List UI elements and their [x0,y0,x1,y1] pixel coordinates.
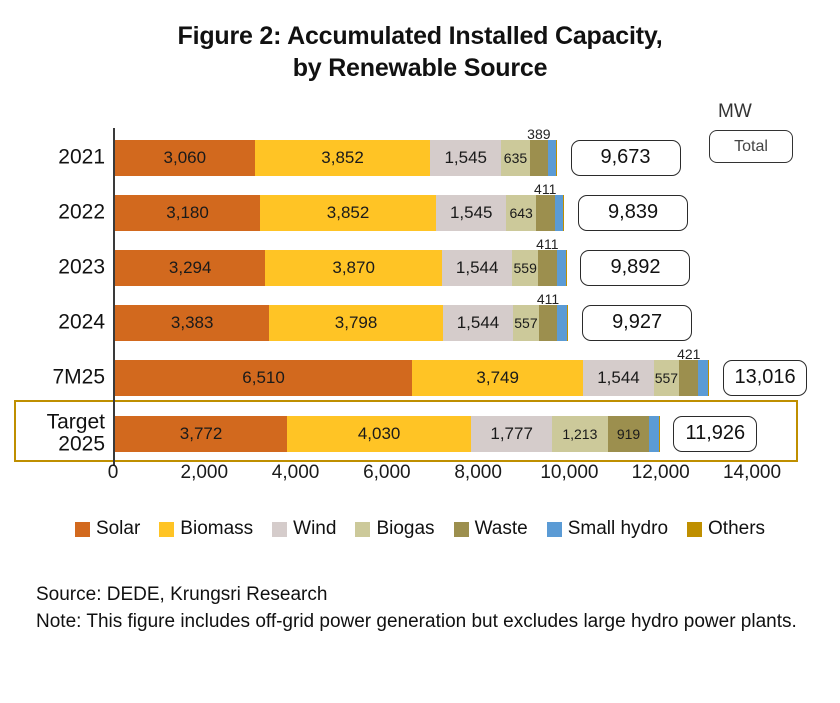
row-category-label: 7M25 [0,366,105,389]
stacked-bar[interactable]: 3,3833,7981,544557 [115,305,568,341]
segment-callout-label: 389 [527,126,550,142]
legend-swatch-icon [687,522,702,537]
row-total-box: 9,927 [582,305,692,341]
bar-segment-waste[interactable] [679,360,698,396]
legend-swatch-icon [75,522,90,537]
legend-label: Small hydro [568,518,668,540]
stacked-bar[interactable]: 3,1803,8521,545643 [115,195,564,231]
segment-value-label: 1,544 [456,258,499,278]
row-total-box: 13,016 [723,360,807,396]
x-axis-tick-label: 0 [108,462,119,484]
segment-callout-label: 411 [537,291,559,307]
footnotes: Source: DEDE, Krungsri Research Note: Th… [36,582,816,636]
stacked-bar[interactable]: 3,0603,8521,545635 [115,140,556,176]
legend-item-wind[interactable]: Wind [272,518,336,540]
legend-swatch-icon [454,522,469,537]
bar-segment-biomass[interactable]: 3,798 [269,305,442,341]
x-axis-tick-label: 6,000 [363,462,411,484]
legend-item-small-hydro[interactable]: Small hydro [547,518,668,540]
row-category-label: 2022 [0,201,105,224]
legend-swatch-icon [272,522,287,537]
legend-swatch-icon [159,522,174,537]
legend-label: Biomass [180,518,253,540]
stacked-bar[interactable]: 3,7724,0301,7771,213919 [115,416,659,452]
bar-row: 20243,3833,7981,5445574119,927 [0,295,840,350]
row-category-label-line1: Target [0,411,105,434]
legend-label: Others [708,518,765,540]
chart-plot-area: 20213,0603,8521,5456353899,67320223,1803… [0,118,840,458]
segment-value-label: 4,030 [358,424,401,444]
legend-item-waste[interactable]: Waste [454,518,528,540]
bar-row: 20223,1803,8521,5456434119,839 [0,185,840,240]
segment-value-label: 919 [617,426,640,442]
bar-segment-biogas[interactable]: 1,213 [552,416,607,452]
bar-segment-solar[interactable]: 3,772 [115,416,287,452]
x-axis-tick-label: 10,000 [540,462,598,484]
segment-value-label: 557 [655,370,678,386]
source-text: Source: DEDE, Krungsri Research [36,582,816,609]
segment-value-label: 1,545 [450,203,493,223]
bar-segment-wind[interactable]: 1,544 [442,250,512,286]
bar-row: 20213,0603,8521,5456353899,673 [0,130,840,185]
bar-segment-biogas[interactable]: 557 [513,305,538,341]
row-category-label: 2024 [0,311,105,334]
bar-segment-others[interactable] [566,250,567,286]
bar-segment-solar[interactable]: 6,510 [115,360,412,396]
segment-value-label: 643 [509,205,532,221]
segment-value-label: 3,294 [169,258,212,278]
bar-segment-small-hydro[interactable] [548,140,556,176]
bar-segment-small-hydro[interactable] [555,195,564,231]
segment-value-label: 3,870 [332,258,375,278]
title-line-2: by Renewable Source [0,52,840,84]
legend-label: Biogas [376,518,434,540]
chart-legend: SolarBiomassWindBiogasWasteSmall hydroOt… [0,518,840,540]
bar-segment-biogas[interactable]: 643 [506,195,535,231]
legend-item-biomass[interactable]: Biomass [159,518,253,540]
bar-segment-waste[interactable] [538,250,557,286]
segment-value-label: 557 [514,315,537,331]
bar-segment-waste[interactable] [530,140,548,176]
segment-value-label: 1,213 [562,426,597,442]
legend-label: Waste [475,518,528,540]
x-axis-ticks: 02,0004,0006,0008,00010,00012,00014,000 [0,462,840,490]
segment-value-label: 3,798 [335,313,378,333]
bar-segment-waste[interactable] [539,305,558,341]
row-total-box: 9,892 [580,250,690,286]
row-category-label: 2023 [0,256,105,279]
legend-item-solar[interactable]: Solar [75,518,140,540]
bar-segment-others[interactable] [708,360,709,396]
stacked-bar[interactable]: 6,5103,7491,544557 [115,360,709,396]
bar-segment-small-hydro[interactable] [649,416,658,452]
segment-value-label: 635 [504,150,527,166]
row-total-box: 11,926 [673,416,757,452]
segment-value-label: 3,060 [164,148,207,168]
segment-value-label: 559 [514,260,537,276]
segment-value-label: 1,777 [490,424,533,444]
bar-segment-biomass[interactable]: 3,852 [255,140,431,176]
bar-segment-wind[interactable]: 1,544 [443,305,513,341]
bar-segment-wind[interactable]: 1,545 [436,195,507,231]
bar-segment-waste[interactable]: 919 [608,416,650,452]
row-total-box: 9,673 [571,140,681,176]
bar-row: 7M256,5103,7491,54455742113,016 [0,350,840,405]
segment-value-label: 3,749 [476,368,519,388]
bar-segment-wind[interactable]: 1,544 [583,360,653,396]
bar-segment-small-hydro[interactable] [557,305,567,341]
x-axis-tick-label: 8,000 [454,462,502,484]
x-axis-tick-label: 12,000 [632,462,690,484]
bar-segment-biogas[interactable]: 635 [501,140,530,176]
segment-value-label: 3,772 [180,424,223,444]
bar-segment-biogas[interactable]: 559 [512,250,538,286]
legend-item-biogas[interactable]: Biogas [355,518,434,540]
segment-callout-label: 411 [534,181,556,197]
bar-segment-solar[interactable]: 3,383 [115,305,269,341]
legend-item-others[interactable]: Others [687,518,765,540]
bar-row: Target20253,7724,0301,7771,21391911,926 [0,406,840,461]
bar-segment-biomass[interactable]: 4,030 [287,416,471,452]
bar-row: 20233,2943,8701,5445594119,892 [0,240,840,295]
bar-segment-others[interactable] [567,305,568,341]
segment-callout-label: 411 [536,236,558,252]
legend-label: Wind [293,518,336,540]
segment-value-label: 1,544 [597,368,640,388]
bar-segment-small-hydro[interactable] [557,250,566,286]
bar-segment-biomass[interactable]: 3,852 [260,195,436,231]
segment-value-label: 3,180 [166,203,209,223]
segment-value-label: 3,852 [321,148,364,168]
bar-segment-solar[interactable]: 3,180 [115,195,260,231]
row-category-label-line2: 2025 [0,434,105,457]
segment-value-label: 3,383 [171,313,214,333]
bar-segment-solar[interactable]: 3,060 [115,140,255,176]
bar-segment-biomass[interactable]: 3,870 [265,250,442,286]
stacked-bar[interactable]: 3,2943,8701,544559 [115,250,566,286]
x-axis-tick-label: 2,000 [181,462,229,484]
bar-segment-waste[interactable] [536,195,555,231]
page-title: Figure 2: Accumulated Installed Capacity… [0,0,840,84]
title-line-1: Figure 2: Accumulated Installed Capacity… [0,20,840,52]
x-axis-tick-label: 4,000 [272,462,320,484]
segment-value-label: 1,545 [444,148,487,168]
bar-segment-wind[interactable]: 1,545 [430,140,501,176]
note-text: Note: This figure includes off-grid powe… [36,609,816,636]
legend-swatch-icon [355,522,370,537]
segment-value-label: 3,852 [327,203,370,223]
bar-segment-biogas[interactable]: 557 [654,360,679,396]
bar-segment-biomass[interactable]: 3,749 [412,360,583,396]
bar-segment-solar[interactable]: 3,294 [115,250,265,286]
segment-callout-label: 421 [677,346,700,362]
legend-swatch-icon [547,522,562,537]
row-category-label: Target2025 [0,411,105,456]
row-total-box: 9,839 [578,195,688,231]
bar-segment-others[interactable] [563,195,564,231]
segment-value-label: 1,544 [457,313,500,333]
bar-segment-wind[interactable]: 1,777 [471,416,552,452]
segment-value-label: 6,510 [242,368,285,388]
legend-label: Solar [96,518,140,540]
row-category-label: 2021 [0,146,105,169]
x-axis-tick-label: 14,000 [723,462,781,484]
bar-segment-small-hydro[interactable] [698,360,708,396]
